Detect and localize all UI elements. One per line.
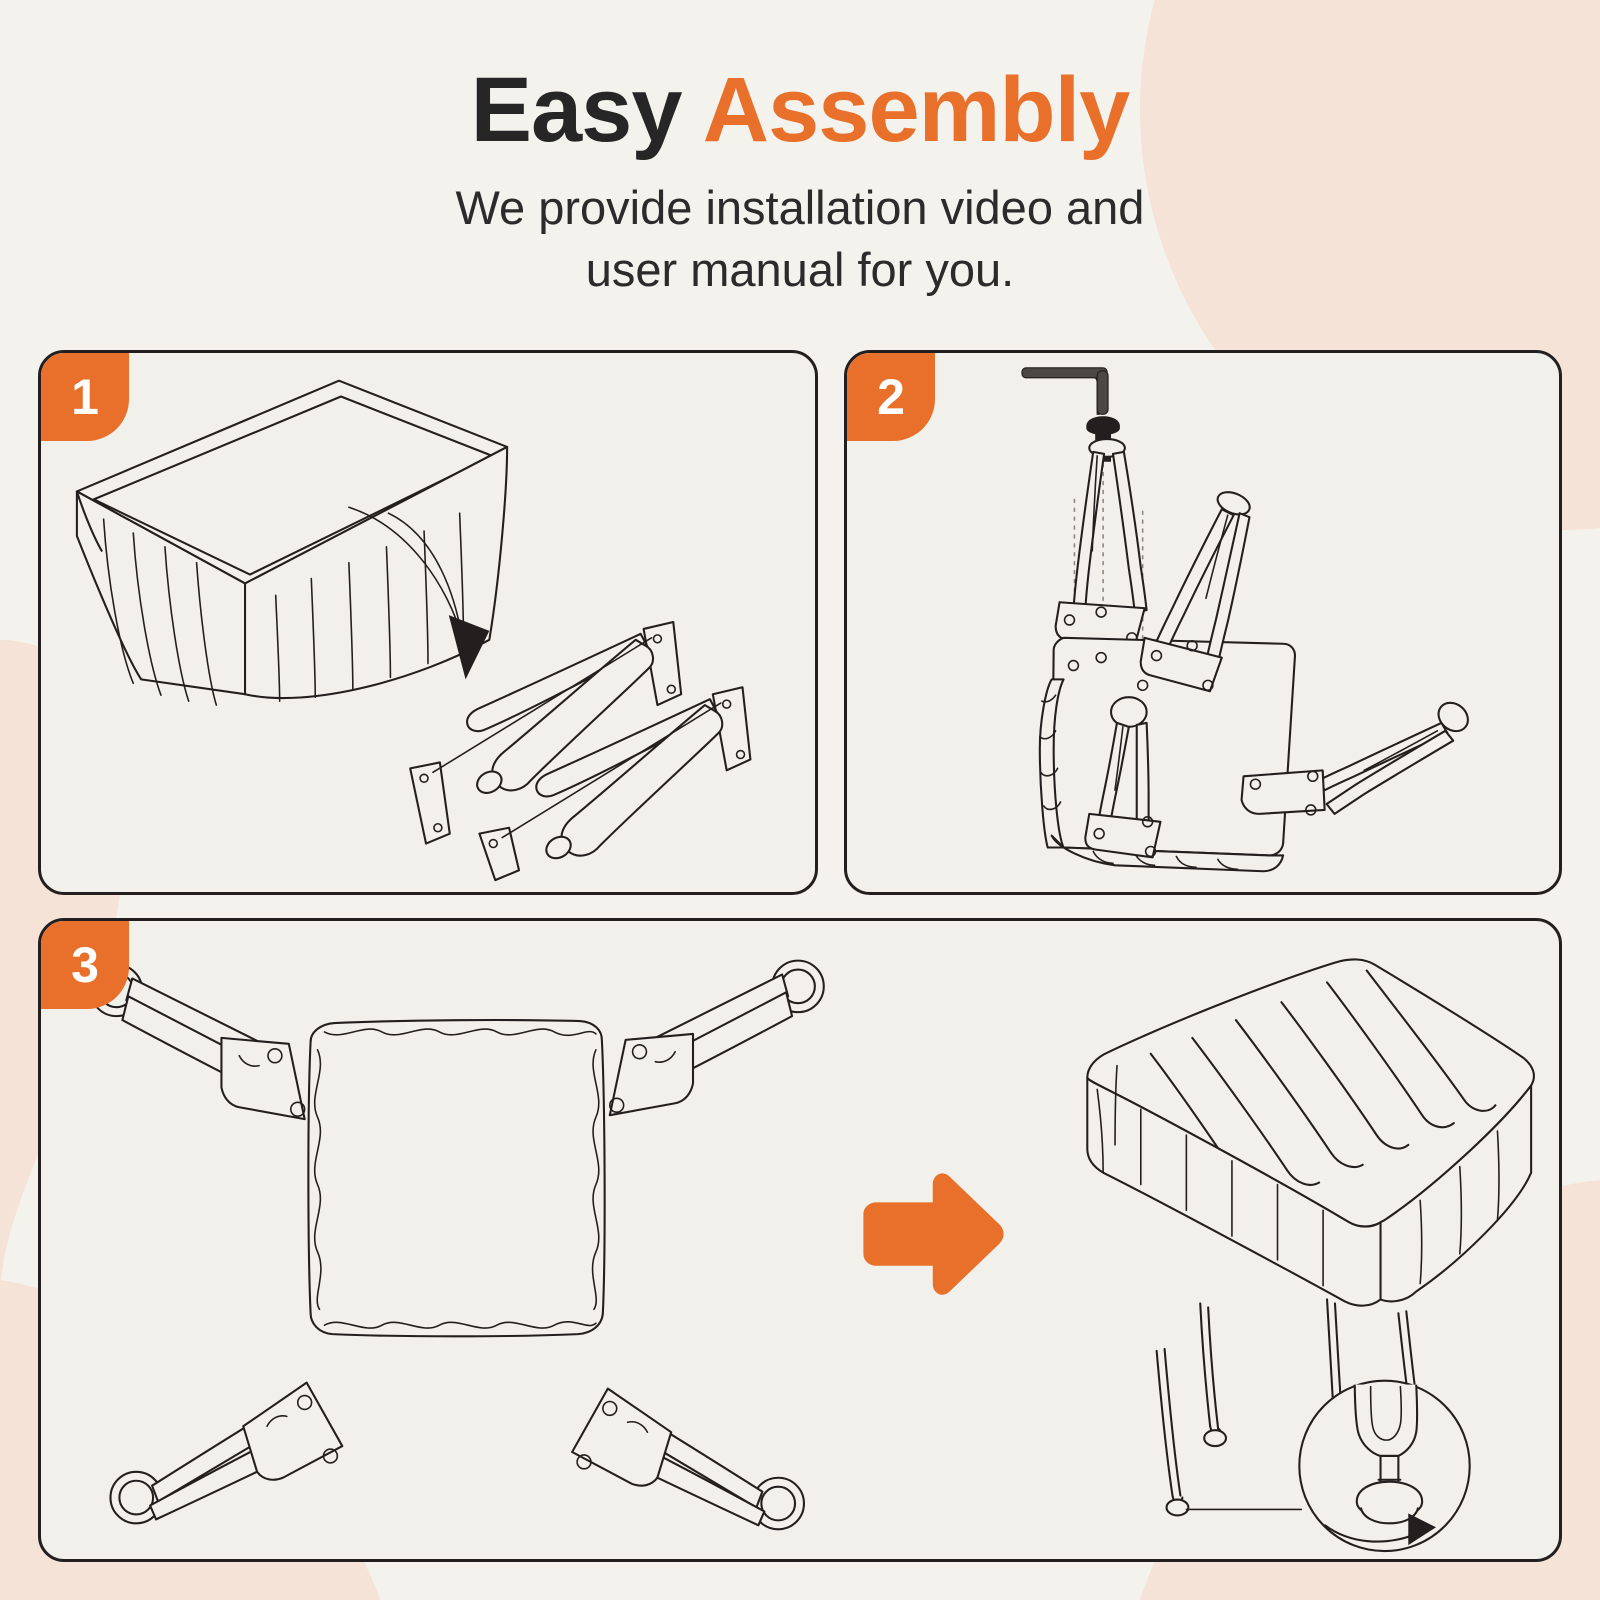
ottoman-top-view-icon <box>91 961 824 1530</box>
orange-arrow-icon <box>863 1173 1003 1294</box>
allen-key-icon <box>1022 368 1108 414</box>
page-title-dark-part: Easy <box>471 59 682 161</box>
step-panel-2: 2 <box>844 350 1562 895</box>
detail-magnifier-circle <box>1299 1381 1469 1551</box>
step-3-illustration <box>41 921 1559 1559</box>
page-subtitle-line-1: We provide installation video and <box>456 181 1145 234</box>
step-panel-3: 3 <box>38 918 1562 1562</box>
leg-bottom-left <box>110 1383 342 1524</box>
page-title: Easy Assembly <box>0 0 1600 159</box>
page-subtitle: We provide installation video and user m… <box>0 159 1600 301</box>
leg-bottom-right <box>572 1389 804 1530</box>
step-badge-1: 1 <box>41 353 129 441</box>
step-2-illustration <box>847 353 1559 892</box>
ottoman-box-icon <box>77 381 507 705</box>
hairpin-leg-icon <box>1056 439 1147 646</box>
leg-top-right <box>610 961 824 1116</box>
header: Easy Assembly We provide installation vi… <box>0 0 1600 301</box>
page-subtitle-line-2: user manual for you. <box>586 243 1014 296</box>
step-badge-3: 3 <box>41 921 129 1009</box>
step-1-illustration <box>41 353 815 892</box>
page-title-accent-part: Assembly <box>703 59 1130 161</box>
step-panel-1: 1 <box>38 350 818 895</box>
step-badge-2: 2 <box>847 353 935 441</box>
